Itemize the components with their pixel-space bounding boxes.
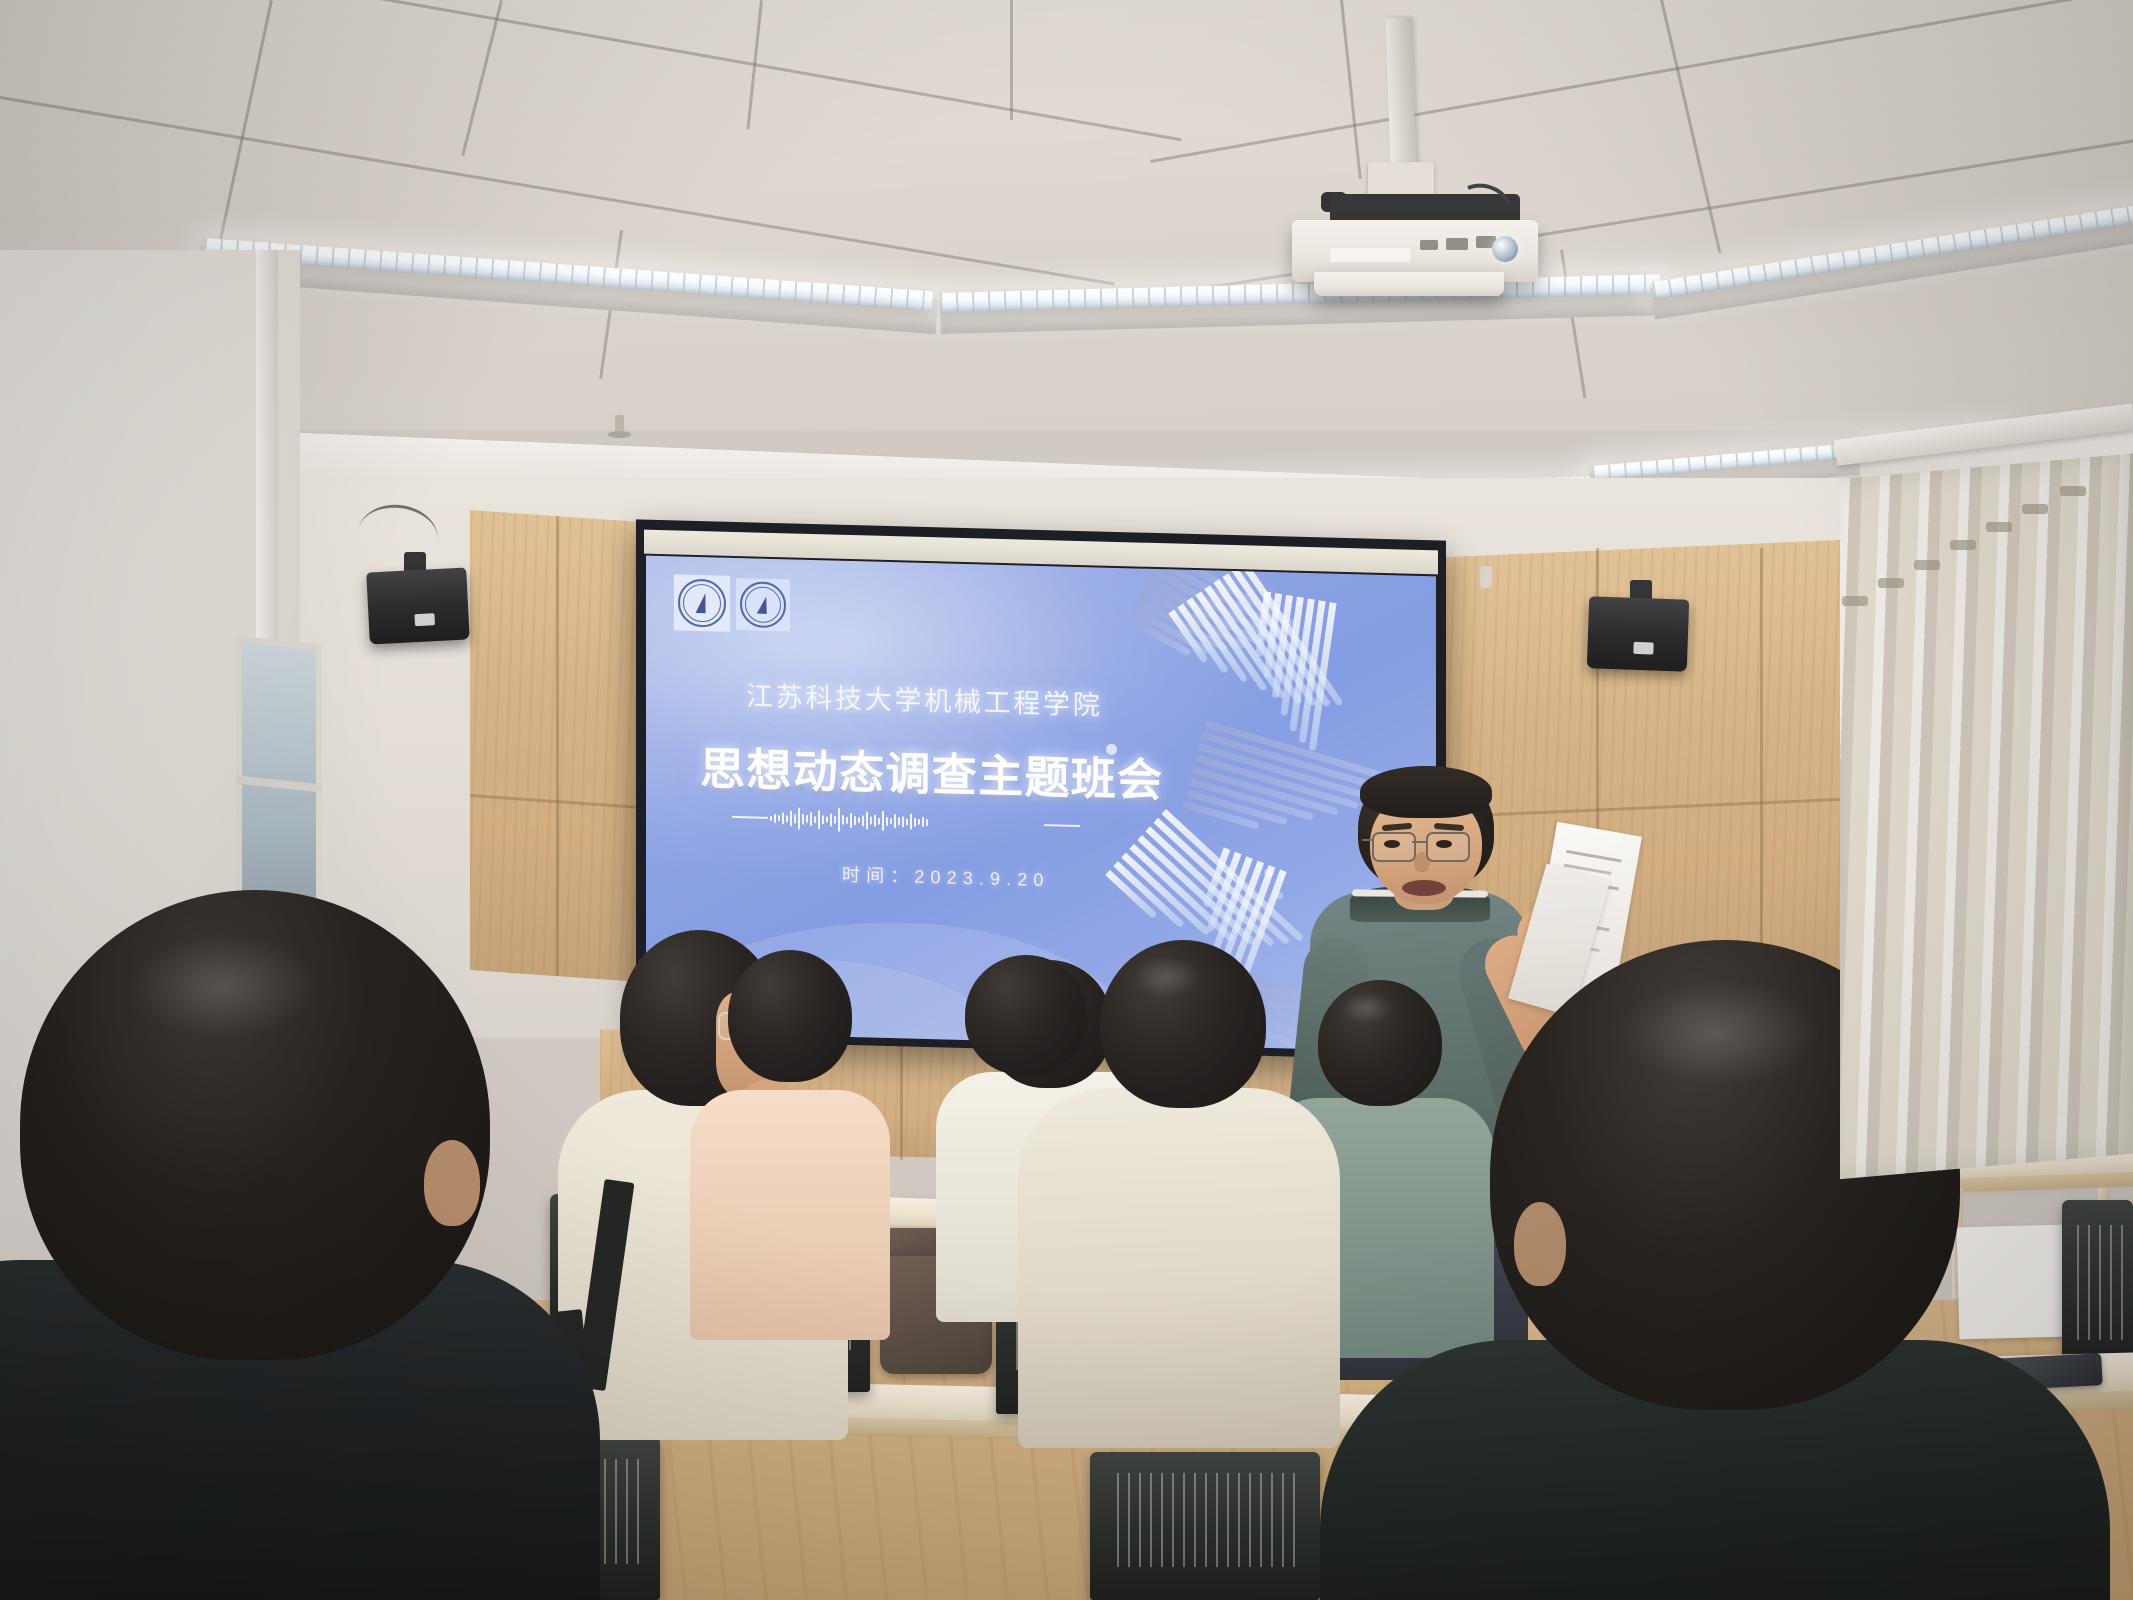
waveform-tail-right — [1044, 824, 1080, 827]
waveform-bar — [918, 819, 920, 825]
chair-back-slats — [1108, 1473, 1301, 1568]
student-ear — [424, 1140, 480, 1226]
glasses-bridge — [1412, 841, 1426, 843]
leaf-decoration — [1165, 809, 1166, 810]
projector-bracket — [1368, 162, 1434, 196]
slide-date: 时间：2023.9.20 — [842, 861, 1050, 892]
hair-highlight — [1132, 956, 1202, 998]
chair-back-slats — [2068, 1225, 2128, 1340]
student-ear — [1514, 1202, 1566, 1286]
projector-mount-pole — [1385, 18, 1416, 169]
waveform-bar — [874, 815, 876, 827]
waveform-bar — [798, 808, 800, 830]
wood-wall-panel-left — [470, 510, 640, 982]
speaker-badge — [1633, 642, 1653, 655]
sailboat-icon — [696, 593, 709, 613]
slide-waveform — [770, 793, 928, 847]
curtain-hook — [2060, 486, 2086, 496]
waveform-bar — [830, 813, 832, 826]
curtain-hook — [1878, 578, 1904, 588]
waveform-bar — [910, 814, 912, 830]
paper-on-chair — [1957, 1225, 2066, 1340]
curtain-hook — [1914, 560, 1940, 570]
waveform-bar — [782, 812, 784, 824]
sprinkler-head — [615, 415, 624, 437]
projector-lower-shell — [1314, 272, 1504, 296]
waveform-bar — [854, 816, 856, 825]
waveform-bar — [882, 811, 884, 831]
panel-seam — [1760, 548, 1763, 1008]
presenter-eye-left — [1384, 840, 1400, 848]
presenter-hair — [1360, 766, 1492, 818]
presenter-nose — [1414, 852, 1430, 872]
waveform-bar — [878, 817, 880, 824]
ceiling — [0, 0, 2133, 430]
waveform-bar — [926, 818, 928, 825]
waveform-bar — [842, 815, 844, 825]
hair-highlight — [1620, 980, 1820, 1086]
panel-seam — [900, 1040, 903, 1160]
waveform-bar — [826, 816, 828, 822]
panel-seam — [556, 516, 559, 976]
leaf-decoration — [1335, 603, 1336, 604]
curtain-hook — [1842, 596, 1868, 606]
projector-lens — [1492, 236, 1518, 262]
waveform-bar — [810, 812, 812, 826]
waveform-bar — [822, 815, 824, 824]
glasses-temple — [1362, 839, 1374, 841]
waveform-bar — [794, 814, 796, 823]
leaf-decoration — [1285, 872, 1286, 873]
curtain-hook — [1950, 540, 1976, 550]
slide-subtitle: 江苏科技大学机械工程学院 — [746, 674, 1102, 722]
waveform-bar — [906, 818, 908, 825]
student-torso — [690, 1090, 890, 1340]
waveform-bar — [894, 814, 896, 828]
speaker-badge — [414, 613, 435, 626]
student-head — [728, 950, 852, 1082]
paper-text-line — [1566, 850, 1622, 863]
classroom-photo: 江苏科技大学机械工程学院 思想动态调查主题班会 时间：2023.9.20 — [0, 0, 2133, 1600]
waveform-bar — [898, 817, 900, 825]
university-logo-primary — [674, 574, 730, 631]
logo-ring — [678, 578, 726, 627]
waveform-bar — [786, 815, 788, 822]
waveform-bar — [890, 818, 892, 824]
leaf-decoration — [1206, 720, 1207, 721]
waveform-bar — [770, 815, 772, 820]
waveform-bar — [922, 817, 924, 827]
presenter-mouth — [1402, 880, 1446, 896]
waveform-bar — [886, 816, 888, 825]
waveform-bar — [838, 808, 840, 832]
projector-label — [1330, 248, 1410, 262]
waveform-bar — [902, 816, 904, 827]
chair-front-center — [1090, 1452, 1320, 1600]
ceiling-grid-line — [1010, 0, 1013, 120]
slide-dot — [1276, 892, 1283, 899]
waveform-bar — [850, 812, 852, 827]
waveform-bar — [774, 814, 776, 823]
waveform-bar — [818, 810, 820, 829]
waveform-bar — [778, 815, 780, 821]
ceiling-sensor — [1480, 566, 1492, 588]
waveform-bar — [846, 816, 848, 823]
wall-speaker-right — [1587, 596, 1689, 671]
waveform-tail-left — [732, 816, 768, 819]
hair-highlight — [130, 934, 320, 1038]
university-logo-secondary — [736, 578, 790, 631]
wall-speaker-left — [366, 567, 470, 644]
sailboat-icon — [757, 596, 769, 613]
projector-port — [1446, 238, 1468, 250]
window-curtain — [1840, 453, 2133, 1179]
waveform-bar — [814, 816, 816, 823]
waveform-bar — [862, 815, 864, 826]
presenter-eye-right — [1436, 840, 1452, 848]
logo-ring — [740, 581, 786, 628]
waveform-bar — [914, 817, 916, 826]
curtain-hook — [2022, 504, 2048, 514]
student-head — [965, 955, 1087, 1075]
hair-highlight — [1340, 992, 1394, 1024]
student-torso — [1018, 1088, 1340, 1448]
waveform-bar — [866, 811, 868, 829]
waveform-bar — [834, 816, 836, 824]
curtain-hook — [1986, 522, 2012, 532]
slide-dot — [1264, 868, 1273, 877]
waveform-bar — [858, 817, 860, 823]
projector-port — [1420, 240, 1438, 250]
waveform-bar — [802, 813, 804, 824]
waveform-bar — [806, 815, 808, 823]
waveform-bar — [790, 810, 792, 826]
waveform-bar — [870, 817, 872, 825]
